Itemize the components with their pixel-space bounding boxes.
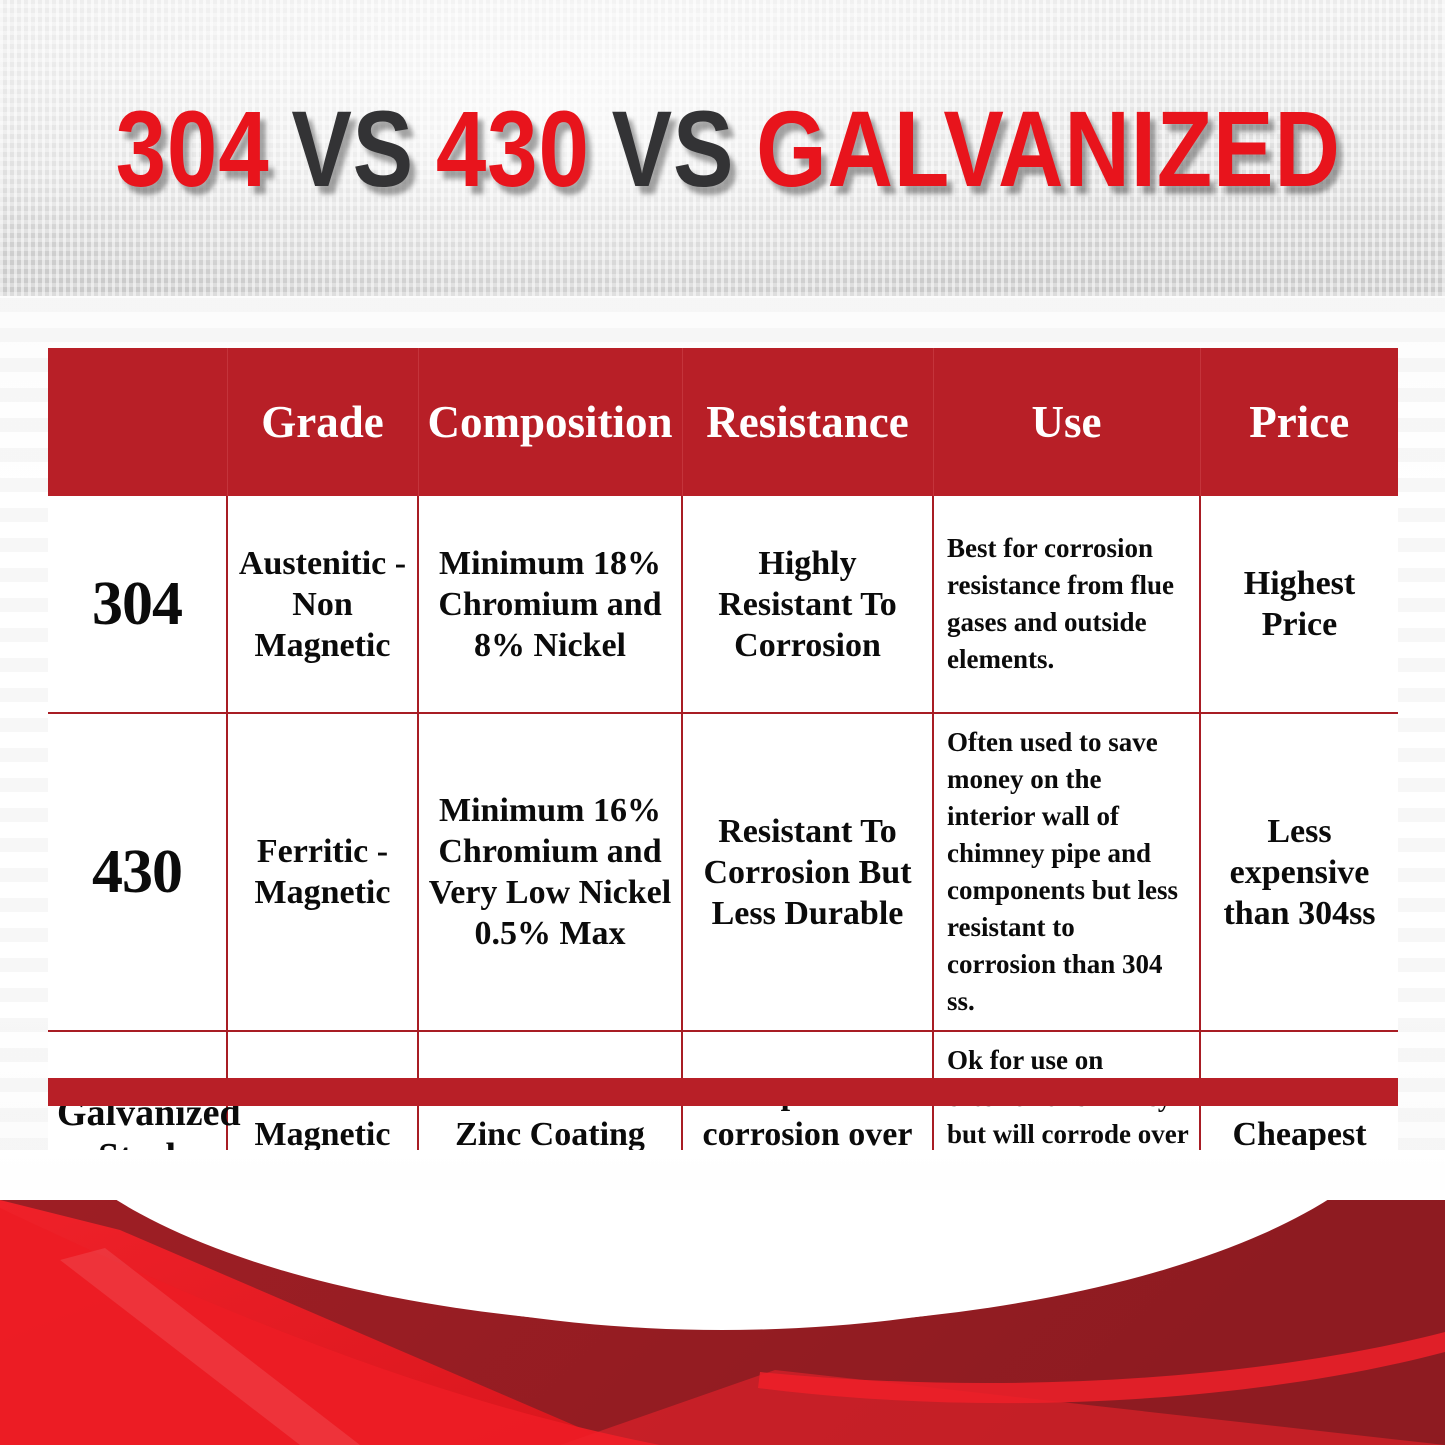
title-part-galvanized: GALVANIZED [756,88,1341,209]
footer-decoration [0,1190,1445,1445]
table-row: 430 Ferritic - Magnetic Minimum 16% Chro… [48,713,1398,1031]
table-bottom-bar [48,1078,1398,1106]
footer-shapes [0,1190,1445,1445]
cell-304-resistance: Highly Resistant To Corrosion [682,496,933,713]
title-part-vs-2: VS [612,88,735,209]
cell-304-price: Highest Price [1200,496,1398,713]
cell-430-composition: Minimum 16% Chromium and Very Low Nickel… [418,713,682,1031]
title-banner: 304VS430VSGALVANIZED [0,0,1445,296]
cell-430-resistance: Resistant To Corrosion But Less Durable [682,713,933,1031]
column-header-use: Use [933,348,1200,496]
column-header-composition: Composition [418,348,682,496]
column-header-resistance: Resistance [682,348,933,496]
page-title: 304VS430VSGALVANIZED [116,95,1330,203]
row-label-304: 304 [48,496,227,713]
infographic-page: 304VS430VSGALVANIZED Grade Composition R… [0,0,1445,1445]
table-header: Grade Composition Resistance Use Price [48,348,1398,496]
table-row: 304 Austenitic - Non Magnetic Minimum 18… [48,496,1398,713]
row-label-430: 430 [48,713,227,1031]
title-part-vs-1: VS [291,88,414,209]
cell-430-use: Often used to save money on the interior… [933,713,1200,1031]
cell-304-grade: Austenitic - Non Magnetic [227,496,418,713]
cell-304-composition: Minimum 18% Chromium and 8% Nickel [418,496,682,713]
title-part-304: 304 [116,88,270,209]
cell-430-grade: Ferritic - Magnetic [227,713,418,1031]
footer-decoration-svg [0,1190,1445,1445]
header-row: Grade Composition Resistance Use Price [48,348,1398,496]
table-body: 304 Austenitic - Non Magnetic Minimum 18… [48,496,1398,1237]
cell-430-price: Less expensive than 304ss [1200,713,1398,1031]
column-header-price: Price [1200,348,1398,496]
column-header-grade: Grade [227,348,418,496]
title-part-430: 430 [436,88,590,209]
cell-304-use: Best for corrosion resistance from flue … [933,496,1200,713]
column-header-blank [48,348,227,496]
